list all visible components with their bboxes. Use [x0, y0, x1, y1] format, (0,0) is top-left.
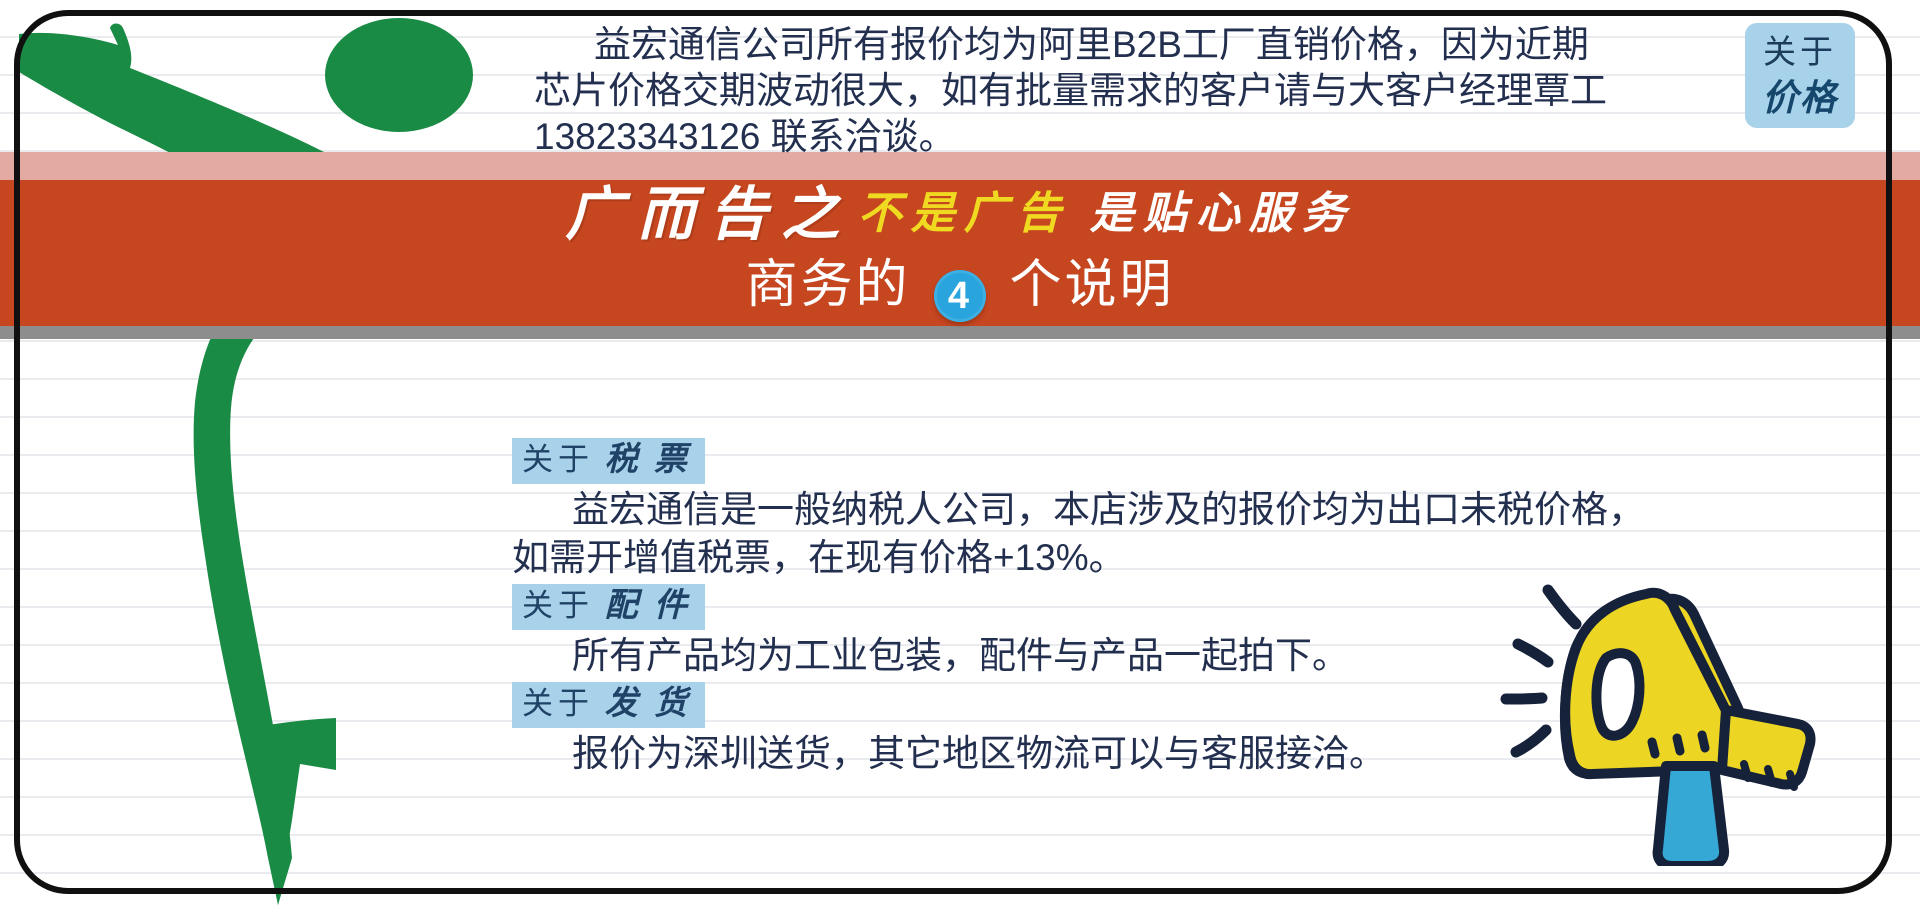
section-tax: 关于 税 票 益宏通信是一般纳税人公司，本店涉及的报价均为出口未税价格， 如需开…	[512, 438, 1872, 582]
top-notice-line-2: 芯片价格交期波动很大，如有批量需求的客户请与大客户经理覃工	[534, 70, 1607, 111]
top-notice-line-1: 益宏通信公司所有报价均为阿里B2B工厂直销价格，因为近期	[594, 24, 1589, 65]
banner-brush-headline: 广而告之 不是广告 是贴心服务	[0, 186, 1920, 244]
promo-banner-image: 广而告之 不是广告 是贴心服务 商务的 4 个说明 益宏通信公司所有报价均为阿里…	[0, 0, 1920, 909]
section-parts-label-keyword: 配 件	[605, 588, 691, 624]
section-tax-text-line-1: 益宏通信是一般纳税人公司，本店涉及的报价均为出口未税价格，	[572, 489, 1645, 530]
section-shipping-text-line-1: 报价为深圳送货，其它地区物流可以与客服接洽。	[572, 733, 1386, 774]
section-parts-label-prefix: 关于	[522, 588, 594, 623]
about-price-badge-prefix: 关于	[1745, 29, 1855, 75]
section-tax-text-line-2: 如需开增值税票，在现有价格+13%。	[512, 537, 1126, 578]
section-tax-label: 关于 税 票	[512, 438, 705, 484]
section-parts-text: 所有产品均为工业包装，配件与产品一起拍下。	[512, 632, 1512, 680]
section-shipping-label: 关于 发 货	[512, 682, 705, 728]
top-notice-line-3: 13823343126 联系洽谈。	[534, 116, 956, 157]
section-tax-label-keyword: 税 票	[605, 442, 691, 478]
banner-gray-stripe	[0, 326, 1920, 339]
about-price-badge-keyword: 价格	[1745, 75, 1855, 121]
number-badge-4-icon: 4	[934, 270, 986, 322]
section-tax-label-prefix: 关于	[522, 442, 594, 477]
section-shipping-text: 报价为深圳送货，其它地区物流可以与客服接洽。	[512, 730, 1512, 778]
banner-subtitle-before: 商务的	[746, 256, 911, 314]
megaphone-icon	[1476, 566, 1846, 866]
about-price-badge: 关于 价格	[1745, 23, 1855, 128]
section-shipping-label-prefix: 关于	[522, 686, 594, 721]
banner-brush-sub-yellow: 不是广告	[858, 189, 1070, 238]
section-parts-text-line-1: 所有产品均为工业包装，配件与产品一起拍下。	[572, 635, 1349, 676]
orange-banner-band: 广而告之 不是广告 是贴心服务 商务的 4 个说明	[0, 180, 1920, 326]
banner-subtitle: 商务的 4 个说明	[0, 254, 1920, 322]
section-shipping-label-keyword: 发 货	[605, 686, 691, 722]
top-notice-paragraph: 益宏通信公司所有报价均为阿里B2B工厂直销价格，因为近期 芯片价格交期波动很大，…	[534, 22, 1690, 160]
section-parts-label: 关于 配 件	[512, 584, 705, 630]
banner-brush-main-text: 广而告之	[565, 182, 853, 247]
banner-subtitle-after: 个说明	[1009, 256, 1174, 314]
banner-brush-sub-white: 是贴心服务	[1090, 189, 1355, 238]
banner-brush-sub-text: 不是广告 是贴心服务	[858, 189, 1355, 238]
